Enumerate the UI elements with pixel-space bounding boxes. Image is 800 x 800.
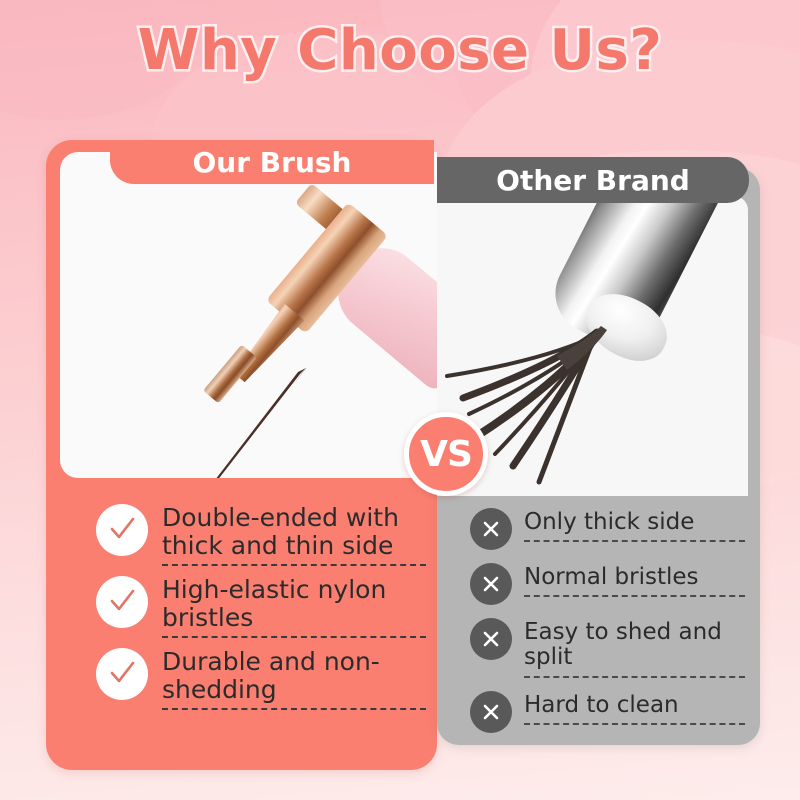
list-item-label: Double-ended with thick and thin side [162,504,426,560]
check-icon [96,576,148,628]
list-item-content: Double-ended with thick and thin side [162,502,426,566]
check-icon [96,504,148,556]
list-item: Double-ended with thick and thin side [96,502,426,566]
check-icon [96,648,148,700]
list-item: Normal bristles [470,563,745,605]
fine-bristle-tip-shape [180,366,310,478]
our-brush-feature-list: Double-ended with thick and thin side Hi… [96,502,426,718]
list-item: Hard to clean [470,691,745,733]
dashed-divider [524,676,745,678]
dashed-divider [162,564,426,566]
dashed-divider [162,708,426,710]
list-item-content: Only thick side [524,508,745,542]
x-icon [470,508,512,550]
tab-our-brush-label: Our Brush [193,146,352,179]
why-choose-us-poster: Why Choose Us? Our Brush [0,0,800,800]
page-title: Why Choose Us? [0,18,800,83]
tab-our-brush[interactable]: Our Brush [110,140,434,184]
list-item: Durable and non-shedding [96,646,426,710]
vs-badge: VS [404,412,488,496]
x-icon [470,618,512,660]
list-item: High-elastic nylon bristles [96,574,426,638]
vs-badge-label: VS [420,434,472,475]
dashed-divider [524,723,745,725]
list-item-content: Normal bristles [524,563,745,597]
tab-other-brand-label: Other Brand [496,164,690,197]
list-item-label: Only thick side [524,510,745,535]
list-item-content: High-elastic nylon bristles [162,574,426,638]
dashed-divider [524,540,745,542]
dashed-divider [524,595,745,597]
list-item-label: High-elastic nylon bristles [162,576,426,632]
list-item-content: Hard to clean [524,691,745,725]
x-icon [470,563,512,605]
x-icon [470,691,512,733]
list-item-label: Hard to clean [524,693,745,718]
our-brush-photo [60,152,437,478]
dashed-divider [162,636,426,638]
list-item-content: Durable and non-shedding [162,646,426,710]
other-brand-feature-list: Only thick side Normal bristles [470,508,745,746]
list-item-content: Easy to shed and split [524,618,745,678]
list-item-label: Normal bristles [524,565,745,590]
list-item: Only thick side [470,508,745,550]
tab-other-brand[interactable]: Other Brand [437,157,749,203]
list-item: Easy to shed and split [470,618,745,678]
list-item-label: Durable and non-shedding [162,648,426,704]
list-item-label: Easy to shed and split [524,620,745,671]
